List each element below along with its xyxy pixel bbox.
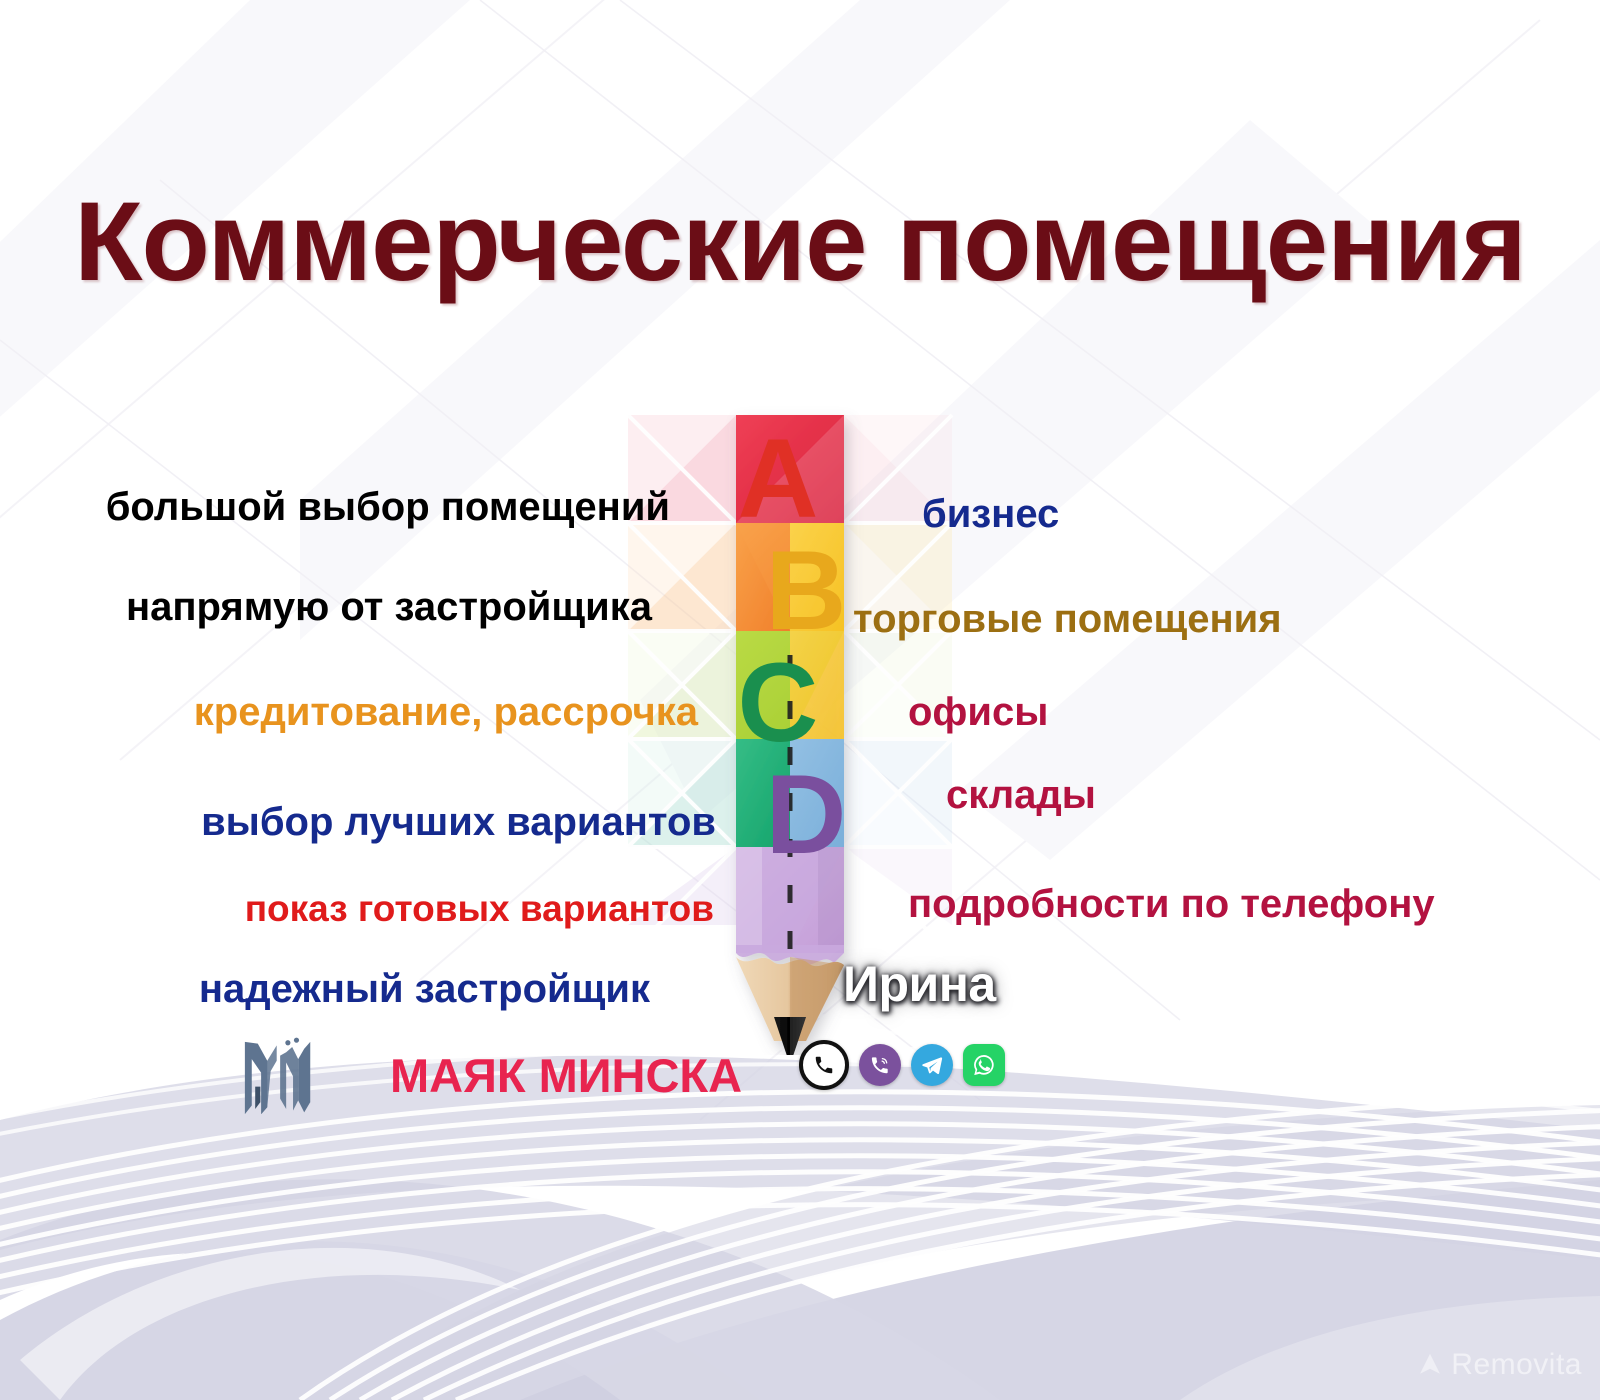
- left-bullet-6: надежный застройщик: [199, 969, 650, 1009]
- pencil-letter-a: A: [738, 416, 819, 541]
- right-bullet-1: бизнес: [922, 494, 1059, 534]
- whatsapp-icon[interactable]: [963, 1044, 1005, 1086]
- pencil-letter-c: C: [738, 640, 819, 765]
- watermark-text: Removita: [1451, 1348, 1582, 1382]
- right-bullet-5: подробности по телефону: [908, 884, 1435, 924]
- left-bullet-2: напрямую от застройщика: [126, 587, 652, 627]
- telegram-icon[interactable]: [911, 1044, 953, 1086]
- pencil-letter-b: B: [766, 528, 847, 653]
- page-title: Коммерческие помещения: [0, 186, 1600, 298]
- watermark: Removita: [1415, 1348, 1582, 1382]
- left-bullet-3: кредитование, рассрочка: [194, 692, 698, 732]
- watermark-icon: [1415, 1350, 1445, 1380]
- brand-name: МАЯК МИНСКА: [390, 1048, 742, 1103]
- mayak-minska-logo: [238, 1035, 324, 1121]
- right-bullet-4: склады: [946, 775, 1096, 815]
- right-bullet-2: торговые помещения: [853, 599, 1282, 639]
- viber-icon[interactable]: [859, 1044, 901, 1086]
- social-links: [799, 1040, 1005, 1090]
- left-bullet-5: показ готовых вариантов: [245, 890, 714, 927]
- left-bullet-4: выбор лучших вариантов: [201, 802, 716, 842]
- contact-name: Ирина: [843, 955, 996, 1013]
- pencil-letter-d: D: [766, 752, 847, 877]
- right-bullet-3: офисы: [908, 692, 1048, 732]
- phone-icon[interactable]: [799, 1040, 849, 1090]
- left-bullet-1: большой выбор помещений: [106, 487, 670, 527]
- poster-canvas: Коммерческие помещения: [0, 0, 1600, 1400]
